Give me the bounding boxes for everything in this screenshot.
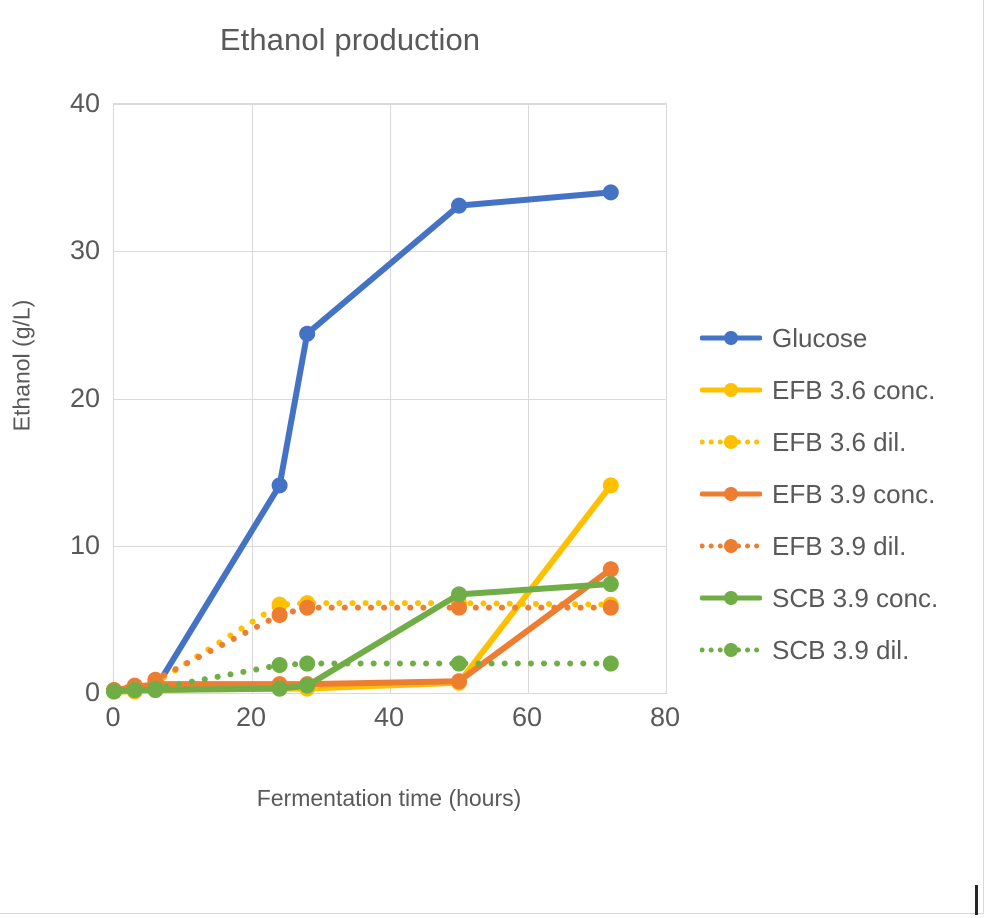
legend-swatch-icon bbox=[700, 640, 762, 660]
legend-item-label: Glucose bbox=[772, 323, 867, 354]
data-point bbox=[127, 682, 143, 698]
legend-swatch-icon bbox=[700, 432, 762, 452]
legend-item[interactable]: EFB 3.9 conc. bbox=[700, 468, 975, 520]
data-point bbox=[272, 477, 288, 493]
legend-item-label: SCB 3.9 conc. bbox=[772, 583, 938, 614]
data-point bbox=[603, 184, 619, 200]
legend-swatch-icon bbox=[700, 484, 762, 504]
data-point bbox=[299, 326, 315, 342]
legend-item-label: EFB 3.9 conc. bbox=[772, 479, 935, 510]
gridline-vertical bbox=[666, 104, 667, 693]
data-point bbox=[451, 586, 467, 602]
legend-swatch-icon bbox=[700, 380, 762, 400]
chart-legend: GlucoseEFB 3.6 conc.EFB 3.6 dil.EFB 3.9 … bbox=[700, 312, 975, 676]
data-point bbox=[299, 678, 315, 694]
x-axis-tick-label: 80 bbox=[625, 704, 705, 731]
data-point bbox=[147, 681, 163, 697]
data-point bbox=[603, 576, 619, 592]
data-point bbox=[272, 681, 288, 697]
x-axis-tick-label: 0 bbox=[73, 704, 153, 731]
y-axis-tick-label: 20 bbox=[40, 385, 100, 412]
legend-item[interactable]: SCB 3.9 conc. bbox=[700, 572, 975, 624]
data-point bbox=[603, 656, 619, 672]
legend-item-label: EFB 3.9 dil. bbox=[772, 531, 906, 562]
legend-item-label: EFB 3.6 conc. bbox=[772, 375, 935, 406]
data-point bbox=[603, 600, 619, 616]
y-axis-tick-label: 10 bbox=[40, 532, 100, 559]
series-efb-3-9-conc bbox=[106, 561, 619, 698]
series-line bbox=[114, 603, 611, 691]
data-point bbox=[106, 684, 122, 700]
data-point bbox=[272, 657, 288, 673]
x-axis-ticks: 020406080 bbox=[113, 704, 665, 744]
plot-area bbox=[113, 103, 667, 694]
legend-item[interactable]: Glucose bbox=[700, 312, 975, 364]
legend-item[interactable]: SCB 3.9 dil. bbox=[700, 624, 975, 676]
x-axis-tick-label: 20 bbox=[211, 704, 291, 731]
data-point bbox=[451, 656, 467, 672]
data-point bbox=[299, 656, 315, 672]
chart-frame: Ethanol production 403020100 Ethanol (g/… bbox=[0, 0, 984, 914]
data-point bbox=[603, 561, 619, 577]
x-axis-tick-label: 40 bbox=[349, 704, 429, 731]
x-axis-title: Fermentation time (hours) bbox=[113, 785, 665, 812]
legend-item[interactable]: EFB 3.6 dil. bbox=[700, 416, 975, 468]
legend-item[interactable]: EFB 3.9 dil. bbox=[700, 520, 975, 572]
data-point bbox=[451, 673, 467, 689]
legend-swatch-icon bbox=[700, 328, 762, 348]
series-scb-3-9-dil bbox=[106, 656, 619, 700]
data-point bbox=[603, 477, 619, 493]
legend-item-label: SCB 3.9 dil. bbox=[772, 635, 909, 666]
y-axis-tick-label: 0 bbox=[40, 679, 100, 706]
data-point bbox=[272, 607, 288, 623]
y-axis-tick-label: 30 bbox=[40, 237, 100, 264]
legend-item[interactable]: EFB 3.6 conc. bbox=[700, 364, 975, 416]
series-line bbox=[114, 192, 611, 691]
data-point bbox=[451, 198, 467, 214]
legend-swatch-icon bbox=[700, 536, 762, 556]
y-axis-tick-label: 40 bbox=[40, 90, 100, 117]
data-point bbox=[299, 600, 315, 616]
legend-swatch-icon bbox=[700, 588, 762, 608]
y-axis-title: Ethanol (g/L) bbox=[9, 236, 36, 496]
window-edge-marker bbox=[975, 885, 978, 915]
series-canvas bbox=[114, 104, 666, 693]
x-axis-tick-label: 60 bbox=[487, 704, 567, 731]
chart-screenshot: { "chart": { "title": "Ethanol productio… bbox=[0, 0, 988, 918]
chart-title: Ethanol production bbox=[0, 22, 700, 58]
series-line bbox=[114, 608, 611, 690]
legend-item-label: EFB 3.6 dil. bbox=[772, 427, 906, 458]
